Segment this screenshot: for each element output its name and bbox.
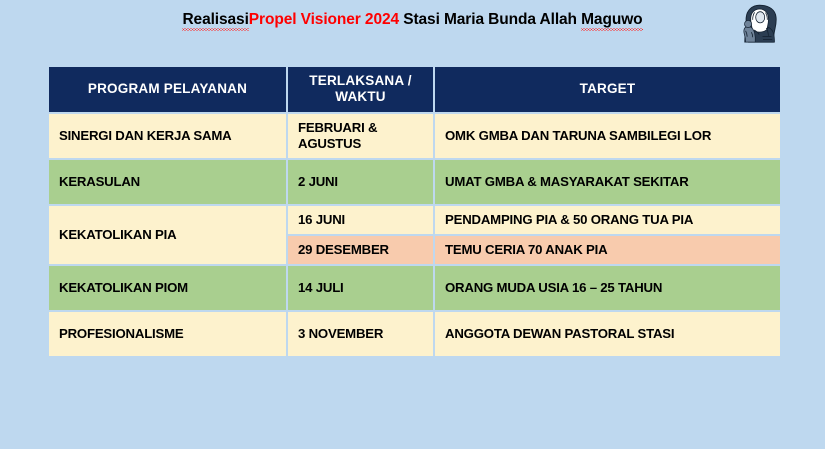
cell-waktu: 29 DESEMBER [288, 236, 433, 264]
page-title: Realisasi Propel Visioner 2024 Stasi Mar… [0, 11, 825, 29]
column-header-waktu: TERLAKSANA / WAKTU [288, 67, 433, 112]
cell-program-merged: KEKATOLIKAN PIA [49, 206, 286, 264]
title-part-stasi: Stasi Maria Bunda Allah [399, 11, 581, 28]
cell-target: OMK GMBA DAN TARUNA SAMBILEGI LOR [435, 114, 780, 158]
cell-waktu: 14 JULI [288, 266, 433, 310]
cell-target: UMAT GMBA & MASYARAKAT SEKITAR [435, 160, 780, 204]
cell-program: KEKATOLIKAN PIOM [49, 266, 286, 310]
cell-target: PENDAMPING PIA & 50 ORANG TUA PIA [435, 206, 780, 234]
realisasi-table: PROGRAM PELAYANAN TERLAKSANA / WAKTU TAR… [47, 65, 782, 358]
table-body: SINERGI DAN KERJA SAMA FEBRUARI & AGUSTU… [49, 114, 780, 356]
table-row: KERASULAN 2 JUNI UMAT GMBA & MASYARAKAT … [49, 160, 780, 204]
table-row: SINERGI DAN KERJA SAMA FEBRUARI & AGUSTU… [49, 114, 780, 158]
cell-waktu: 16 JUNI [288, 206, 433, 234]
cell-program: SINERGI DAN KERJA SAMA [49, 114, 286, 158]
column-header-target: TARGET [435, 67, 780, 112]
cell-target: ANGGOTA DEWAN PASTORAL STASI [435, 312, 780, 356]
table-row: KEKATOLIKAN PIOM 14 JULI ORANG MUDA USIA… [49, 266, 780, 310]
cell-program: KERASULAN [49, 160, 286, 204]
cell-waktu: 2 JUNI [288, 160, 433, 204]
title-part-highlight: Propel Visioner 2024 [249, 11, 399, 28]
madonna-and-child-icon [735, 3, 783, 46]
table-row: KEKATOLIKAN PIA 16 JUNI PENDAMPING PIA &… [49, 206, 780, 234]
cell-waktu: 3 NOVEMBER [288, 312, 433, 356]
cell-program: PROFESIONALISME [49, 312, 286, 356]
title-part-realisasi: Realisasi [182, 11, 248, 29]
table-header: PROGRAM PELAYANAN TERLAKSANA / WAKTU TAR… [49, 67, 780, 112]
title-part-maguwo: Maguwo [581, 11, 642, 29]
column-header-program: PROGRAM PELAYANAN [49, 67, 286, 112]
table-row: PROFESIONALISME 3 NOVEMBER ANGGOTA DEWAN… [49, 312, 780, 356]
cell-waktu: FEBRUARI & AGUSTUS [288, 114, 433, 158]
cell-target: ORANG MUDA USIA 16 – 25 TAHUN [435, 266, 780, 310]
cell-target: TEMU CERIA 70 ANAK PIA [435, 236, 780, 264]
table-header-row: PROGRAM PELAYANAN TERLAKSANA / WAKTU TAR… [49, 67, 780, 112]
